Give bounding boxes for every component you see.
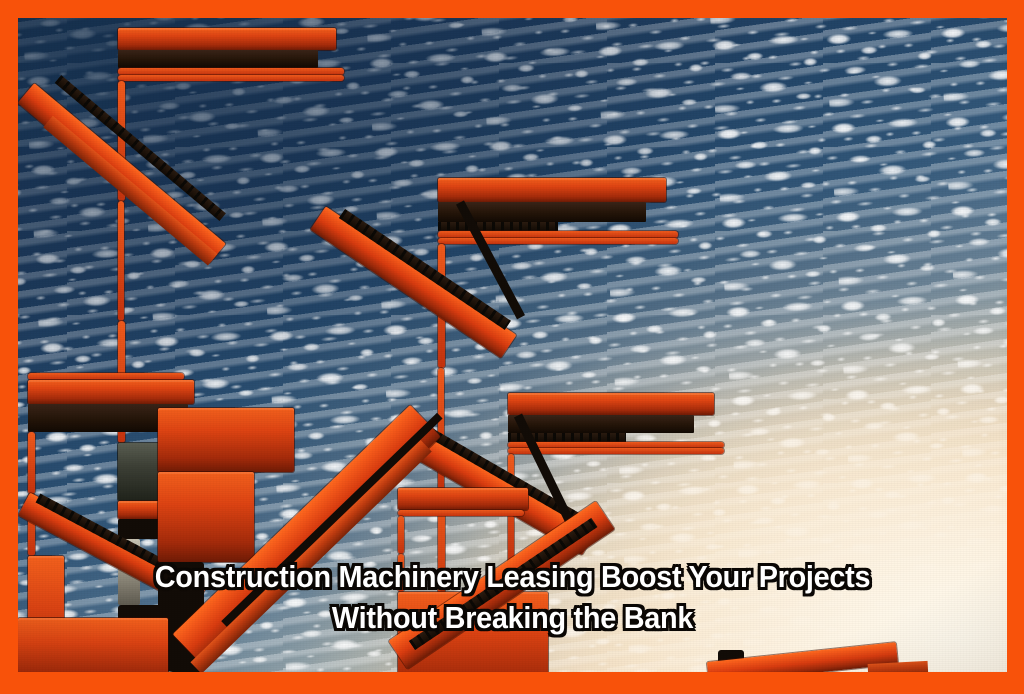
basket-rail-top bbox=[118, 68, 344, 75]
boom-arm-lower-right bbox=[718, 650, 1007, 672]
basket-underside bbox=[118, 50, 318, 68]
basket-deck bbox=[438, 178, 666, 202]
boom-arm-tip bbox=[868, 661, 929, 672]
counterweight-body bbox=[158, 408, 294, 472]
platform-post-right bbox=[398, 554, 404, 592]
basket-floor-grate bbox=[438, 222, 558, 231]
basket-post-center bbox=[118, 201, 124, 321]
turntable-housing bbox=[158, 472, 254, 562]
boom-lift-basket-upper-left bbox=[118, 28, 448, 258]
orange-photo-frame: Construction Machinery Leasing Boost You… bbox=[0, 0, 1024, 694]
basket-deck bbox=[28, 380, 194, 404]
basket-rail-top bbox=[28, 373, 184, 380]
boom-lift-basket-center bbox=[438, 178, 748, 388]
basket-post-left bbox=[28, 432, 35, 494]
platform-deck bbox=[398, 488, 528, 510]
bottom-machinery-band bbox=[18, 618, 718, 672]
basket-deck bbox=[118, 28, 336, 50]
hero-photo: Construction Machinery Leasing Boost You… bbox=[18, 18, 1007, 672]
platform-post-left bbox=[398, 516, 404, 554]
basket-rail-mid bbox=[118, 75, 344, 81]
platform-rail bbox=[398, 510, 524, 516]
machinery-block-a bbox=[18, 618, 168, 672]
